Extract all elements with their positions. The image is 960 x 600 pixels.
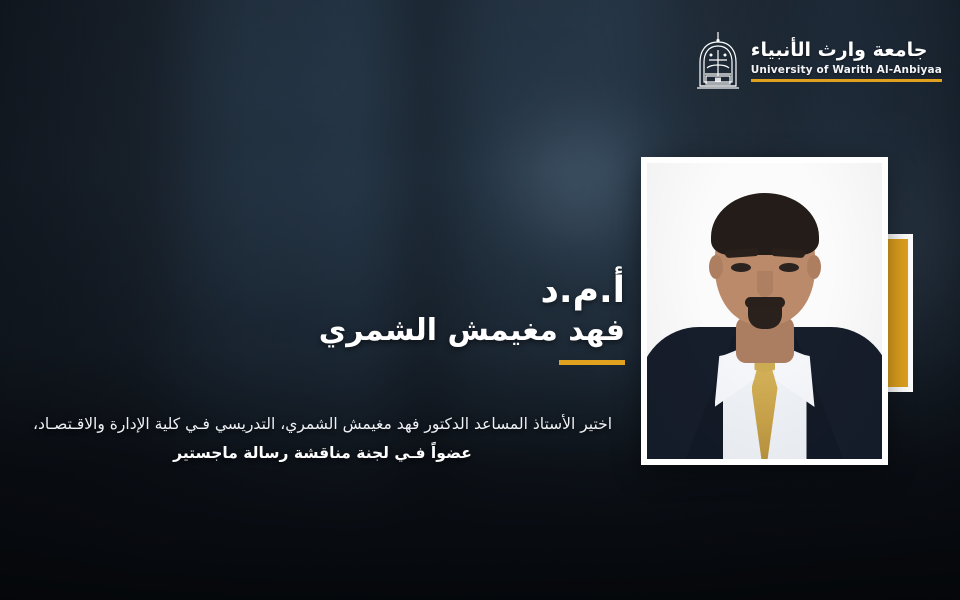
- portrait-photo: [647, 163, 882, 459]
- announcement-text-emphasis: عضواً فـي لجنة مناقشة رسالة ماجستير: [173, 444, 472, 462]
- logo-name-arabic: جامعة وارث الأنبياء: [751, 41, 928, 60]
- portrait-frame: [641, 157, 888, 465]
- announcement-text-lead: اختير الأستاذ المساعد الدكتور فهد مغيمش …: [33, 415, 612, 433]
- headline-gold-rule: [559, 360, 625, 365]
- university-logo-lockup: جامعة وارث الأنبياء University of Warith…: [695, 30, 942, 92]
- academic-title: أ.م.د: [319, 272, 625, 311]
- logo-gold-rule: [751, 79, 942, 82]
- shrine-dome-emblem-icon: [695, 30, 741, 92]
- announcement-card: جامعة وارث الأنبياء University of Warith…: [0, 0, 960, 600]
- logo-wordmark: جامعة وارث الأنبياء University of Warith…: [751, 41, 942, 82]
- person-name: فهد مغيمش الشمري: [319, 313, 625, 350]
- logo-name-english: University of Warith Al-Anbiyaa: [751, 65, 942, 76]
- headline-block: أ.م.د فهد مغيمش الشمري: [319, 272, 625, 365]
- announcement-text: اختير الأستاذ المساعد الدكتور فهد مغيمش …: [20, 410, 625, 469]
